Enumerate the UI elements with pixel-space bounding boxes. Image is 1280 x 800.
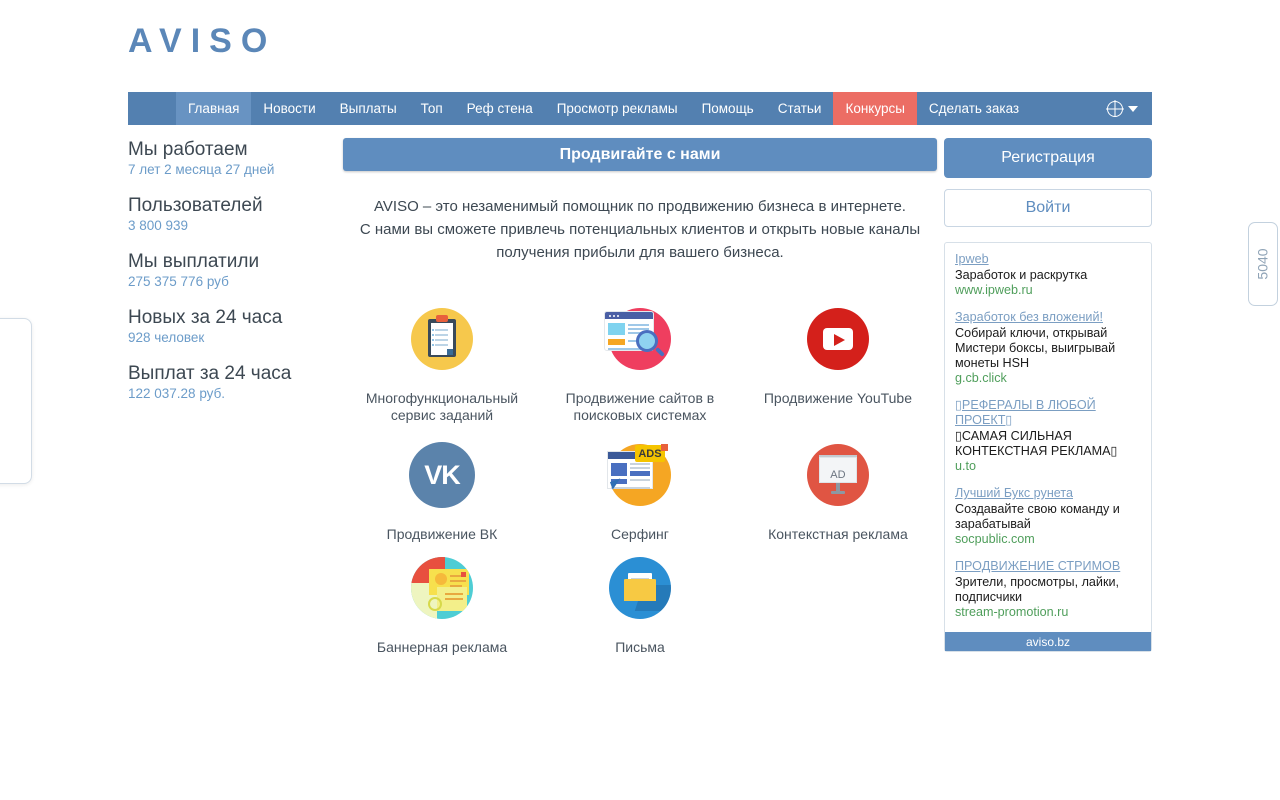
nav-item-view-ads[interactable]: Просмотр рекламы [545,92,690,125]
stat-value: 7 лет 2 месяца 27 дней [128,162,328,177]
ads-block-footer[interactable]: aviso.bz [945,632,1151,651]
side-counter-tab[interactable]: 5040 [1248,222,1278,306]
service-icon-wrap [541,549,739,627]
service-label: Контекстная реклама [753,526,923,543]
stat-title: Мы выплатили [128,250,328,273]
right-sidebar: Регистрация Войти Ipweb Заработок и раск… [944,138,1152,652]
stat-total-paid: Мы выплатили 275 375 776 руб [128,250,328,289]
service-label: Серфинг [555,526,725,543]
services-row: VK Продвижение ВК [343,436,937,543]
nav-item-make-order[interactable]: Сделать заказ [917,92,1031,125]
seo-search-icon [609,308,671,370]
chevron-down-icon [1128,106,1138,112]
main-content: Продвигайте с нами AVISO – это незаменим… [343,138,937,656]
ad-label-text: AD [807,444,869,506]
stat-users: Пользователей 3 800 939 [128,194,328,233]
ad-item: ▯РЕФЕРАЛЫ В ЛЮБОЙ ПРОЕКТ▯ ▯САМАЯ СИЛЬНАЯ… [955,398,1141,474]
nav-item-help[interactable]: Помощь [690,92,766,125]
globe-icon [1107,101,1123,117]
stat-title: Новых за 24 часа [128,306,328,329]
ad-url[interactable]: www.ipweb.ru [955,283,1141,298]
service-icon-wrap: AD [739,436,937,514]
service-youtube[interactable]: Продвижение YouTube [739,300,937,424]
stat-value: 275 375 776 руб [128,274,328,289]
service-tasks[interactable]: Многофункциональный сервис заданий [343,300,541,424]
ad-title[interactable]: Ipweb [955,252,1141,267]
ads-block: Ipweb Заработок и раскрутка www.ipweb.ru… [944,242,1152,652]
service-vk[interactable]: VK Продвижение ВК [343,436,541,543]
service-surfing[interactable]: ADS Серфинг [541,436,739,543]
service-label: Продвижение сайтов в поисковых системах [555,390,725,424]
ad-item: Заработок без вложений! Собирай ключи, о… [955,310,1141,386]
service-banner-ads[interactable]: Баннерная реклама [343,549,541,656]
left-floating-panel[interactable]: × [0,318,32,484]
service-letters[interactable]: Письма [541,549,739,656]
ad-description: Заработок и раскрутка [955,268,1141,283]
service-label: Многофункциональный сервис заданий [357,390,527,424]
nav-item-home[interactable]: Главная [176,92,251,125]
ad-url[interactable]: socpublic.com [955,532,1141,547]
register-button[interactable]: Регистрация [944,138,1152,178]
ad-title[interactable]: ▯РЕФЕРАЛЫ В ЛЮБОЙ ПРОЕКТ▯ [955,398,1141,428]
services-grid: Многофункциональный сервис заданий [343,300,937,656]
ad-url[interactable]: g.cb.click [955,371,1141,386]
mail-envelope-icon [609,557,671,619]
services-row: Многофункциональный сервис заданий [343,300,937,424]
ad-description: ▯САМАЯ СИЛЬНАЯ КОНТЕКСТНАЯ РЕКЛАМА▯ [955,429,1141,459]
service-seo[interactable]: Продвижение сайтов в поисковых системах [541,300,739,424]
stat-value: 122 037.28 руб. [128,386,328,401]
nav-item-top[interactable]: Топ [409,92,455,125]
service-label: Баннерная реклама [357,639,527,656]
ad-description: Зрители, просмотры, лайки, подписчики [955,575,1141,605]
promo-banner: Продвигайте с нами [343,138,937,171]
stat-value: 3 800 939 [128,218,328,233]
stat-working-time: Мы работаем 7 лет 2 месяца 27 дней [128,138,328,177]
service-contextual-ads[interactable]: AD Контекстная реклама [739,436,937,543]
service-label: Продвижение YouTube [753,390,923,407]
stat-title: Мы работаем [128,138,328,161]
stat-payouts-24h: Выплат за 24 часа 122 037.28 руб. [128,362,328,401]
ad-item: Лучший Букс рунета Создавайте свою коман… [955,486,1141,547]
statistics-sidebar: Мы работаем 7 лет 2 месяца 27 дней Польз… [128,138,328,418]
page-root: AVISO Главная Новости Выплаты Топ Реф ст… [0,0,1280,800]
ad-title[interactable]: ПРОДВИЖЕНИЕ СТРИМОВ [955,559,1141,574]
service-icon-wrap [541,300,739,378]
ad-item: Ipweb Заработок и раскрутка www.ipweb.ru [955,252,1141,298]
language-selector[interactable] [1097,92,1152,125]
stat-title: Выплат за 24 часа [128,362,328,385]
ad-url[interactable]: stream-promotion.ru [955,605,1141,620]
service-label: Письма [555,639,725,656]
intro-line-1: AVISO – это незаменимый помощник по прод… [343,195,937,218]
vk-glyph: VK [409,442,475,508]
nav-item-articles[interactable]: Статьи [766,92,834,125]
ad-description: Собирай ключи, открывай Мистери боксы, в… [955,326,1141,371]
ad-description: Создавайте свою команду и зарабатывай [955,502,1141,532]
service-icon-wrap: VK [343,436,541,514]
banner-ad-icon [411,557,473,619]
service-label: Продвижение ВК [357,526,527,543]
nav-item-news[interactable]: Новости [251,92,327,125]
login-button[interactable]: Войти [944,189,1152,227]
service-icon-wrap [739,300,937,378]
services-row: Баннерная реклама [343,549,937,656]
ad-title[interactable]: Заработок без вложений! [955,310,1141,325]
site-logo[interactable]: AVISO [128,22,276,61]
main-navigation: Главная Новости Выплаты Топ Реф стена Пр… [128,92,1152,125]
service-placeholder [739,549,937,656]
vk-icon: VK [409,442,475,508]
nav-item-ref-wall[interactable]: Реф стена [455,92,545,125]
service-icon-wrap: ADS [541,436,739,514]
ad-url[interactable]: u.to [955,459,1141,474]
stat-new-24h: Новых за 24 часа 928 человек [128,306,328,345]
stat-title: Пользователей [128,194,328,217]
nav-left-spacer [128,92,176,125]
clipboard-tasks-icon [411,308,473,370]
intro-text: AVISO – это незаменимый помощник по прод… [343,195,937,264]
ad-item: ПРОДВИЖЕНИЕ СТРИМОВ Зрители, просмотры, … [955,559,1141,620]
ad-title[interactable]: Лучший Букс рунета [955,486,1141,501]
youtube-icon [807,308,869,370]
nav-item-payouts[interactable]: Выплаты [328,92,409,125]
intro-line-2: С нами вы сможете привлечь потенциальных… [343,218,937,264]
stat-value: 928 человек [128,330,328,345]
service-icon-wrap [343,549,541,627]
nav-item-contests[interactable]: Конкурсы [833,92,916,125]
surfing-ads-icon: ADS [609,444,671,506]
side-counter-label: 5040 [1255,248,1271,279]
billboard-ad-icon: AD [807,444,869,506]
service-icon-wrap [343,300,541,378]
